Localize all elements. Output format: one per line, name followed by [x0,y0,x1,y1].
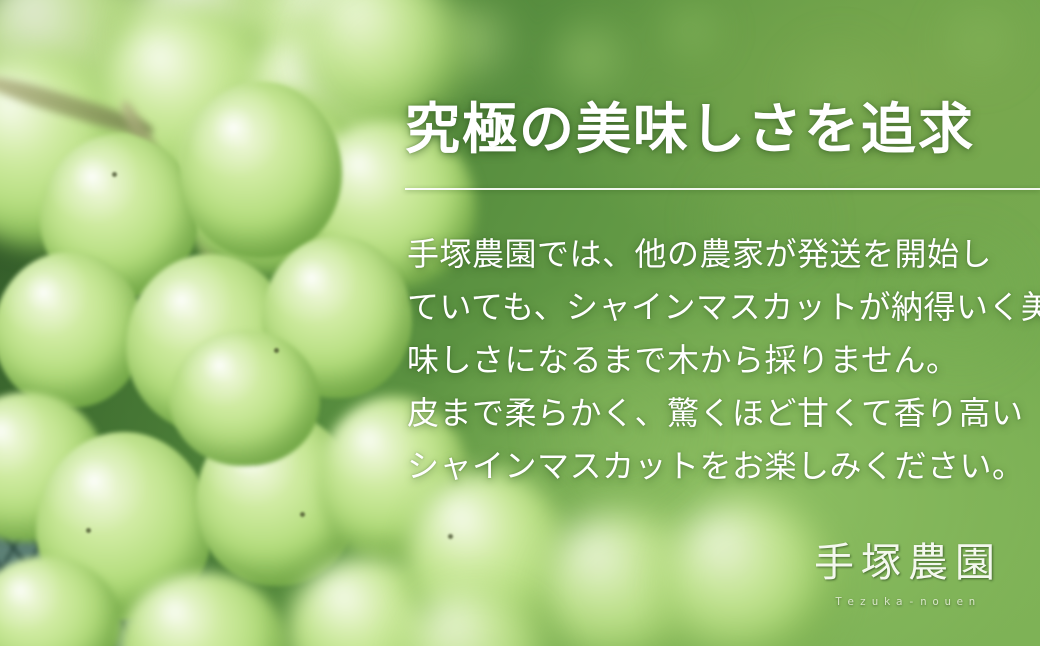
description-line: 手塚農園では、他の農家が発送を開始し [407,228,1027,281]
description-line: シャインマスカットをお楽しみください。 [407,440,1027,493]
product-banner: 究極の美味しさを追求 手塚農園では、他の農家が発送を開始し ていても、シャインマ… [0,0,1040,646]
grape-berry [170,330,320,466]
page-title: 究極の美味しさを追求 [405,84,975,164]
grape-skin-speck [274,348,279,353]
grape-berry [0,252,144,408]
grape-skin-speck [86,528,91,533]
title-divider [405,188,1040,190]
brand-logo-romaji: Tezuka-nouen [814,595,1002,608]
description-line: 皮まで柔らかく、驚くほど甘くて香り高い [407,387,1027,440]
brand-logo: 手塚農園 Tezuka-nouen [814,530,1002,608]
grape-berry [180,82,342,258]
description-line: ていても、シャインマスカットが納得いく美 [407,281,1027,334]
description-line: 味しさになるまで木から採りません。 [407,334,1027,387]
brand-logo-kanji: 手塚農園 [814,530,1002,588]
grape-skin-speck [112,172,117,177]
description-paragraph: 手塚農園では、他の農家が発送を開始し ていても、シャインマスカットが納得いく美 … [407,228,1027,493]
grape-skin-speck [300,512,305,517]
